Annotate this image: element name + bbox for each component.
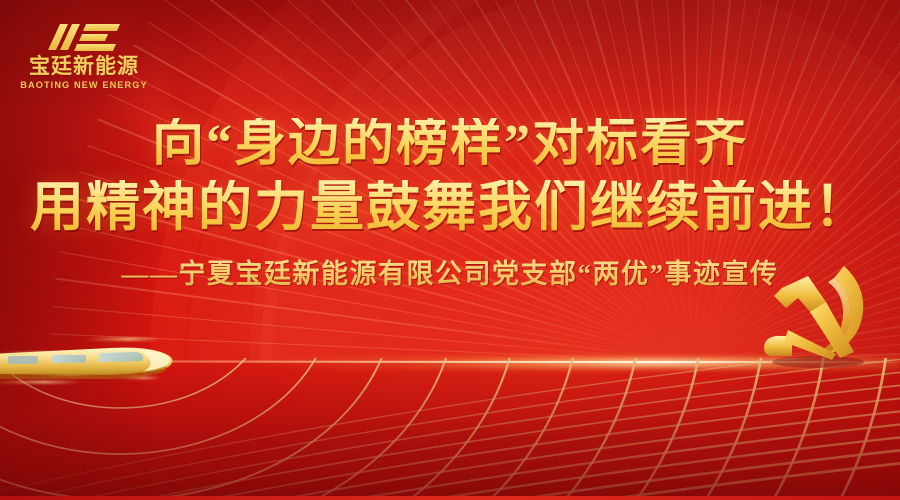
poster-canvas: 宝廷新能源 BAOTING NEW ENERGY 向“身边的榜样”对标看齐 用精…	[0, 0, 900, 500]
high-speed-train	[0, 330, 260, 400]
headline-block: 向“身边的榜样”对标看齐 用精神的力量鼓舞我们继续前进！	[0, 118, 900, 234]
train-window	[8, 356, 38, 364]
emblem-shadow	[772, 356, 864, 368]
company-logo[interactable]: 宝廷新能源 BAOTING NEW ENERGY	[14, 22, 154, 90]
logo-company-name-en: BAOTING NEW ENERGY	[14, 81, 154, 90]
subtitle-text: ——宁夏宝廷新能源有限公司党支部“两优”事迹宣传	[0, 252, 900, 291]
poster-bottom-edge	[0, 496, 900, 500]
headline-line-1: 向“身边的榜样”对标看齐	[0, 118, 900, 170]
baoting-logo-mark	[46, 22, 122, 52]
logo-company-name-cn: 宝廷新能源	[14, 56, 154, 77]
headline-line-2: 用精神的力量鼓舞我们继续前进！	[0, 180, 900, 234]
train-windshield	[98, 352, 143, 362]
train-window	[52, 355, 86, 363]
